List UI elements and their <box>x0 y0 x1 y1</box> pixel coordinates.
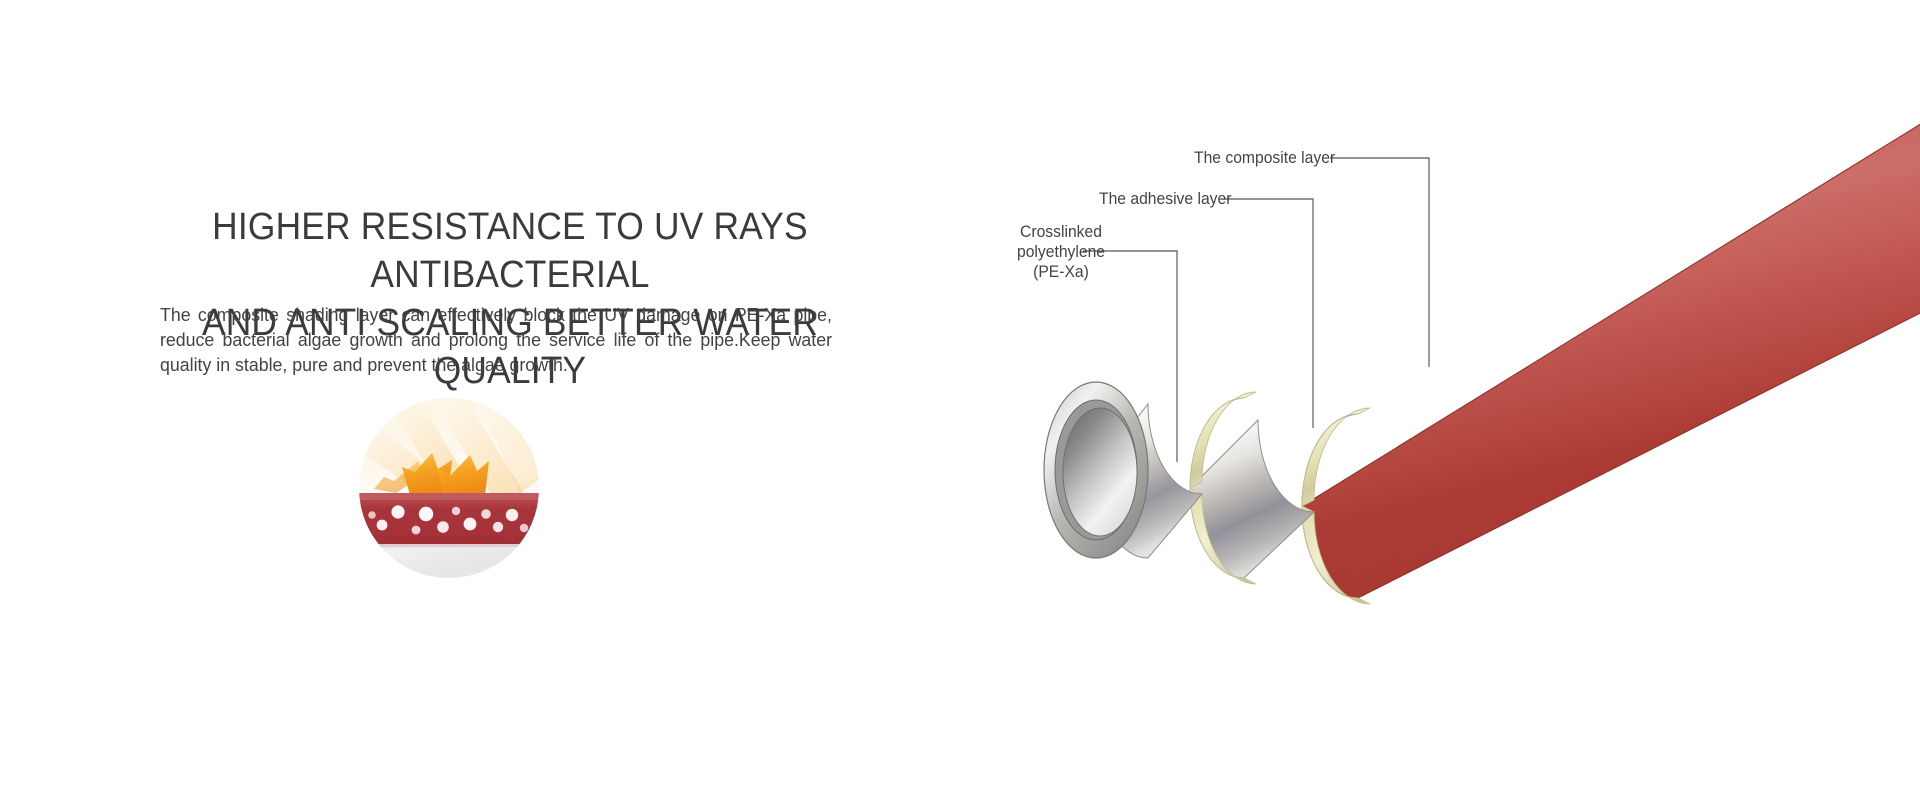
uv-shielding-icon-svg <box>358 397 540 579</box>
pipe-layer-composite <box>1302 120 1920 598</box>
body-paragraph: The composite shading layer can effectiv… <box>160 302 832 377</box>
callout-label-adhesive: The adhesive layer <box>1099 189 1231 209</box>
callout-label-pexa: Crosslinked polyethylene (PE-Xa) <box>980 222 1142 282</box>
illustration-stage: HIGHER RESISTANCE TO UV RAYS ANTIBACTERI… <box>0 0 1920 800</box>
callout-label-composite: The composite layer <box>1194 148 1335 168</box>
text-column: HIGHER RESISTANCE TO UV RAYS ANTIBACTERI… <box>0 0 950 800</box>
pipe-bore <box>1063 408 1137 536</box>
pipe-end-face <box>1044 382 1148 558</box>
composite-barrier-layer <box>358 493 540 549</box>
uv-shielding-icon <box>358 397 540 579</box>
